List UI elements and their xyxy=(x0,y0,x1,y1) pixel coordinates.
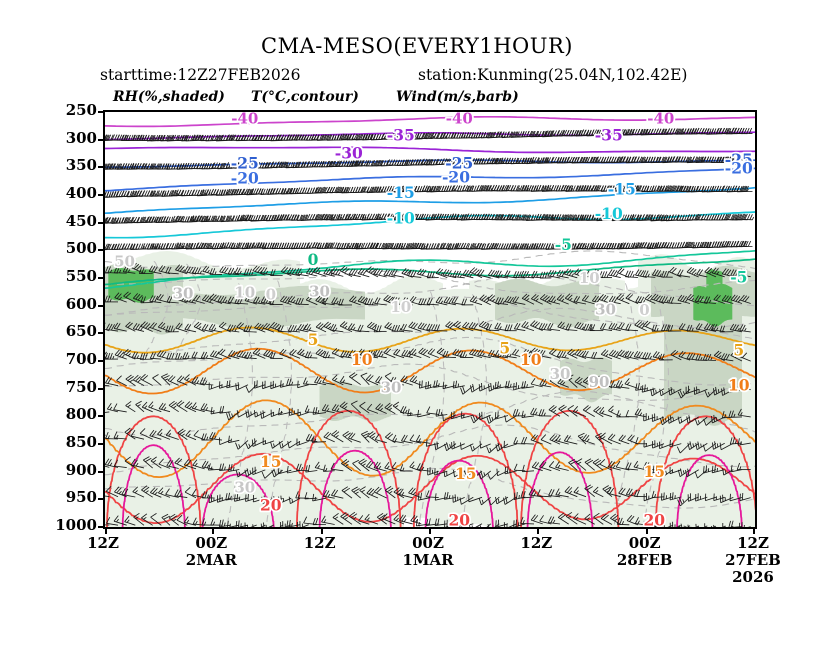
contour-label: 20 xyxy=(644,511,666,528)
y-axis-label: 350 xyxy=(37,156,97,174)
x-axis-label: 12Z xyxy=(275,535,365,552)
contour-label: -30 xyxy=(335,144,363,163)
contour-label: 30 xyxy=(550,365,571,383)
subtitle-row: starttime:12Z27FEB2026 station:Kunming(2… xyxy=(0,66,834,86)
x-axis-label: 12Z xyxy=(491,535,581,552)
y-axis-label: 600 xyxy=(37,295,97,313)
chart-plot-area: -40-40-40-40-40-40-35-35-35-35-30-30-25-… xyxy=(103,110,757,529)
x-axis-label-line: 2026 xyxy=(708,569,798,586)
contour-label: 10 xyxy=(579,269,600,287)
legend-item-temp: T(°C,contour) xyxy=(251,89,359,105)
x-axis-label-line: 12Z xyxy=(491,535,581,552)
legend: RH(%,shaded) T(°C,contour) Wind(m/s,barb… xyxy=(103,89,763,109)
x-axis-label-line: 12Z xyxy=(708,535,798,552)
chart-canvas: -40-40-40-40-40-40-35-35-35-35-30-30-25-… xyxy=(105,112,755,527)
contour-label: 5 xyxy=(308,330,319,349)
x-axis-label-line: 2MAR xyxy=(166,552,256,569)
y-axis-label: 850 xyxy=(37,433,97,451)
y-axis-label: 800 xyxy=(37,405,97,423)
contour-label: -35 xyxy=(595,125,623,144)
contour-label: 0 xyxy=(266,286,276,304)
contour-label: 10 xyxy=(390,298,411,316)
contour-label: 30 xyxy=(381,379,402,397)
contour-label: 50 xyxy=(114,253,135,271)
x-axis-label-line: 1MAR xyxy=(383,552,473,569)
contour-label: 5 xyxy=(733,341,744,360)
y-axis-label: 1000 xyxy=(37,516,97,534)
x-axis-label: 00Z2MAR xyxy=(166,535,256,569)
y-axis-label: 750 xyxy=(37,378,97,396)
x-axis-label: 12Z xyxy=(58,535,148,552)
x-axis-label: 12Z27FEB2026 xyxy=(708,535,798,585)
x-axis-label: 00Z1MAR xyxy=(383,535,473,569)
contour-label: 30 xyxy=(173,285,194,303)
contour-label: -40 xyxy=(647,112,674,128)
contour-label: 5 xyxy=(499,338,510,357)
y-axis-tick xyxy=(98,498,105,500)
contour-label: -10 xyxy=(595,204,623,223)
x-axis-label-line: 00Z xyxy=(383,535,473,552)
contour-label: 30 xyxy=(595,301,616,319)
y-axis-tick xyxy=(98,139,105,141)
y-axis-tick xyxy=(98,222,105,224)
y-axis-label: 400 xyxy=(37,184,97,202)
contour-label: -40 xyxy=(231,112,258,128)
x-axis-tick xyxy=(646,527,648,534)
contour-label: -5 xyxy=(730,268,747,287)
contour-label: 10 xyxy=(234,284,255,302)
contour-label: 15 xyxy=(455,464,477,483)
y-axis-tick xyxy=(98,249,105,251)
page-title: CMA-MESO(EVERY1HOUR) xyxy=(0,34,834,58)
x-axis-tick xyxy=(212,527,214,534)
x-axis-tick xyxy=(105,527,107,534)
station-label: station:Kunming(25.04N,102.42E) xyxy=(418,66,687,84)
x-axis-label-line: 28FEB xyxy=(600,552,690,569)
y-axis-tick xyxy=(98,194,105,196)
contour-label: 20 xyxy=(260,496,282,515)
y-axis-tick xyxy=(98,111,105,113)
x-axis-label: 00Z28FEB xyxy=(600,535,690,569)
x-axis-label-line: 12Z xyxy=(58,535,148,552)
y-axis-tick xyxy=(98,388,105,390)
y-axis-tick xyxy=(98,471,105,473)
y-axis-tick xyxy=(98,360,105,362)
y-axis-tick xyxy=(98,332,105,334)
x-axis-tick xyxy=(429,527,431,534)
y-axis-tick xyxy=(98,166,105,168)
x-axis-label-line: 12Z xyxy=(275,535,365,552)
contour-label: -20 xyxy=(725,159,753,178)
x-axis-label-line: 27FEB xyxy=(708,552,798,569)
y-axis-tick xyxy=(98,526,105,528)
y-axis-label: 700 xyxy=(37,350,97,368)
contour-label: -15 xyxy=(387,183,415,202)
contour-label: 10 xyxy=(520,350,542,369)
contour-label: -35 xyxy=(387,125,415,144)
y-axis-tick xyxy=(98,443,105,445)
contour-label: -20 xyxy=(442,167,470,186)
y-axis-label: 450 xyxy=(37,212,97,230)
contour-label: -20 xyxy=(231,169,259,188)
y-axis-label: 500 xyxy=(37,239,97,257)
y-axis-label: 250 xyxy=(37,101,97,119)
contour-label-layer: -40-40-40-40-40-40-35-35-35-35-30-30-25-… xyxy=(105,112,755,527)
contour-label: 10 xyxy=(351,350,373,369)
y-axis-label: 900 xyxy=(37,461,97,479)
y-axis-tick xyxy=(98,305,105,307)
y-axis-label: 300 xyxy=(37,129,97,147)
contour-label: 10 xyxy=(728,376,750,395)
x-axis-label-line: 00Z xyxy=(600,535,690,552)
contour-label: 15 xyxy=(260,452,282,471)
legend-item-wind: Wind(m/s,barb) xyxy=(396,89,519,105)
contour-label: 15 xyxy=(644,462,666,481)
y-axis-tick xyxy=(98,415,105,417)
x-axis-tick xyxy=(753,527,755,534)
contour-label: 30 xyxy=(309,282,330,300)
y-axis-label: 550 xyxy=(37,267,97,285)
contour-label: -10 xyxy=(387,208,415,227)
contour-label: 90 xyxy=(589,373,610,391)
contour-label: -5 xyxy=(555,235,572,254)
x-axis-tick xyxy=(537,527,539,534)
x-axis-tick xyxy=(321,527,323,534)
contour-label: 30 xyxy=(234,478,255,496)
y-axis-tick xyxy=(98,277,105,279)
y-axis-label: 650 xyxy=(37,322,97,340)
legend-item-rh: RH(%,shaded) xyxy=(113,89,225,105)
contour-label: 0 xyxy=(308,250,319,269)
contour-label: 20 xyxy=(449,511,471,528)
contour-label: 0 xyxy=(639,301,649,319)
contour-label: -40 xyxy=(446,112,473,128)
x-axis-label-line: 00Z xyxy=(166,535,256,552)
contour-label: -15 xyxy=(608,180,636,199)
starttime-label: starttime:12Z27FEB2026 xyxy=(100,66,300,84)
y-axis-label: 950 xyxy=(37,488,97,506)
